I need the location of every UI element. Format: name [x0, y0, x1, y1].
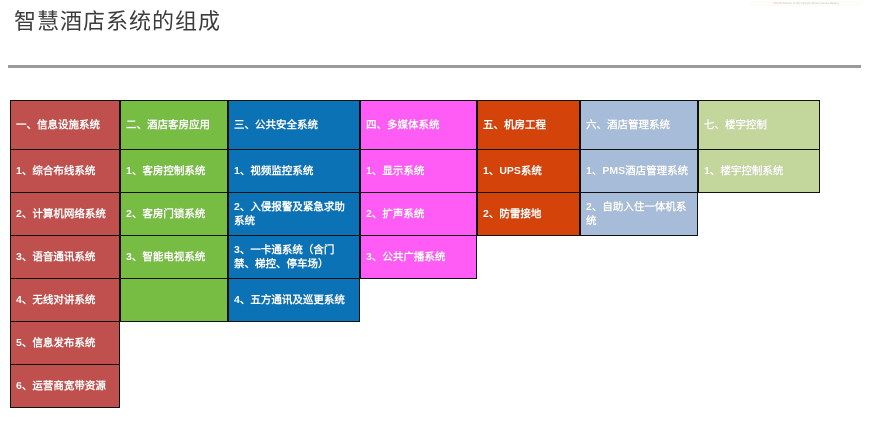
col-machine-room-item-2[interactable]: 2、防雷接地 [477, 192, 580, 236]
col-guestroom-app-item-3[interactable]: 3、智能电视系统 [120, 235, 228, 279]
col-building-control: 七、楼宇控制1、楼宇控制系统 [698, 100, 820, 193]
col-info-facility-item-6[interactable]: 6、运营商宽带资源 [10, 364, 120, 408]
col-hotel-management-item-1[interactable]: 1、PMS酒店管理系统 [580, 149, 698, 193]
col-guestroom-app: 二、酒店客房应用1、客房控制系统2、客房门锁系统3、智能电视系统 [120, 100, 228, 322]
system-composition-table: 一、信息设施系统1、综合布线系统2、计算机网络系统3、语音通讯系统4、无线对讲系… [10, 100, 820, 408]
col-guestroom-app-item-4 [120, 278, 228, 322]
col-hotel-management-item-2[interactable]: 2、自助入住一体机系统 [580, 192, 698, 236]
col-hotel-management: 六、酒店管理系统1、PMS酒店管理系统2、自助入住一体机系统 [580, 100, 698, 236]
col-info-facility-item-1[interactable]: 1、综合布线系统 [10, 149, 120, 193]
col-machine-room: 五、机房工程1、UPS系统2、防雷接地 [477, 100, 580, 236]
title-divider [8, 65, 861, 68]
col-info-facility: 一、信息设施系统1、综合布线系统2、计算机网络系统3、语音通讯系统4、无线对讲系… [10, 100, 120, 408]
col-multimedia-item-1[interactable]: 1、显示系统 [360, 149, 477, 193]
col-public-security-item-4[interactable]: 4、五方通讯及巡更系统 [228, 278, 360, 322]
col-building-control-item-1[interactable]: 1、楼宇控制系统 [698, 149, 820, 193]
col-info-facility-item-5[interactable]: 5、信息发布系统 [10, 321, 120, 365]
col-multimedia: 四、多媒体系统1、显示系统2、扩声系统3、公共广播系统 [360, 100, 477, 279]
col-machine-room-header[interactable]: 五、机房工程 [477, 100, 580, 150]
page-title: 智慧酒店系统的组成 [14, 8, 221, 38]
col-multimedia-item-2[interactable]: 2、扩声系统 [360, 192, 477, 236]
col-public-security-item-1[interactable]: 1、视频监控系统 [228, 149, 360, 193]
col-info-facility-item-4[interactable]: 4、无线对讲系统 [10, 278, 120, 322]
col-machine-room-item-1[interactable]: 1、UPS系统 [477, 149, 580, 193]
watermark-text: Official Partner of the Olympic Winter G… [749, 1, 863, 6]
col-hotel-management-header[interactable]: 六、酒店管理系统 [580, 100, 698, 150]
col-info-facility-header[interactable]: 一、信息设施系统 [10, 100, 120, 150]
col-guestroom-app-item-2[interactable]: 2、客房门锁系统 [120, 192, 228, 236]
col-info-facility-item-2[interactable]: 2、计算机网络系统 [10, 192, 120, 236]
col-public-security-item-2[interactable]: 2、入侵报警及紧急求助系统 [228, 192, 360, 236]
col-info-facility-item-3[interactable]: 3、语音通讯系统 [10, 235, 120, 279]
col-guestroom-app-item-1[interactable]: 1、客房控制系统 [120, 149, 228, 193]
col-public-security-header[interactable]: 三、公共安全系统 [228, 100, 360, 150]
col-building-control-header[interactable]: 七、楼宇控制 [698, 100, 820, 150]
col-multimedia-item-3[interactable]: 3、公共广播系统 [360, 235, 477, 279]
col-multimedia-header[interactable]: 四、多媒体系统 [360, 100, 477, 150]
col-public-security-item-3[interactable]: 3、一卡通系统（含门禁、梯控、停车场） [228, 235, 360, 279]
col-public-security: 三、公共安全系统1、视频监控系统2、入侵报警及紧急求助系统3、一卡通系统（含门禁… [228, 100, 360, 322]
col-guestroom-app-header[interactable]: 二、酒店客房应用 [120, 100, 228, 150]
